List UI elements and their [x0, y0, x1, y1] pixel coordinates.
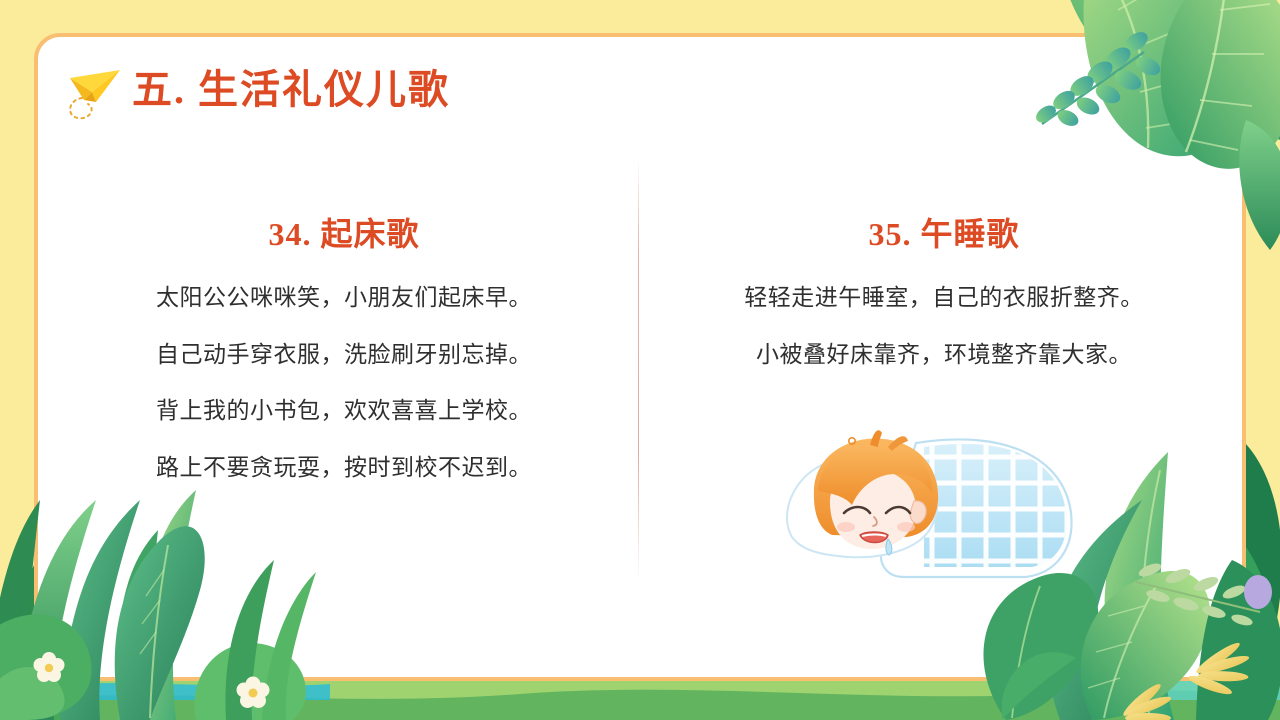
song-title-35: 35. 午睡歌: [654, 209, 1234, 255]
lyric-line: 路上不要贪玩耍，按时到校不迟到。: [54, 451, 634, 486]
blush-right: [897, 522, 915, 532]
lyric-line: 小被叠好床靠齐，环境整齐靠大家。: [654, 338, 1234, 373]
lyric-line: 背上我的小书包，欢欢喜喜上学校。: [54, 394, 634, 429]
blush-left: [837, 522, 855, 532]
lyric-line: 自己动手穿衣服，洗脸刷牙别忘掉。: [54, 338, 634, 373]
page-title: 五. 生活礼仪儿歌: [132, 57, 450, 115]
lyrics-list-34: 太阳公公咪咪笑，小朋友们起床早。 自己动手穿衣服，洗脸刷牙别忘掉。 背上我的小书…: [54, 281, 634, 485]
sleeping-child-illustration: [774, 417, 1084, 597]
bottom-landscape: [0, 676, 1280, 720]
slide-stage: 五. 生活礼仪儿歌 34. 起床歌 太阳公公咪咪笑，小朋友们起床早。 自己动手穿…: [0, 0, 1280, 720]
lyrics-list-35: 轻轻走进午睡室，自己的衣服折整齐。 小被叠好床靠齐，环境整齐靠大家。: [654, 281, 1234, 372]
paper-plane-icon: [62, 60, 128, 122]
dotted-trail-icon: [70, 98, 92, 118]
song-column-34: 34. 起床歌 太阳公公咪咪笑，小朋友们起床早。 自己动手穿衣服，洗脸刷牙别忘掉…: [54, 183, 634, 485]
song-column-35: 35. 午睡歌 轻轻走进午睡室，自己的衣服折整齐。 小被叠好床靠齐，环境整齐靠大…: [654, 183, 1234, 372]
card-header: 五. 生活礼仪儿歌: [34, 33, 1246, 143]
lyric-line: 轻轻走进午睡室，自己的衣服折整齐。: [654, 281, 1234, 316]
lyric-line: 太阳公公咪咪笑，小朋友们起床早。: [54, 281, 634, 316]
song-title-34: 34. 起床歌: [54, 209, 634, 255]
